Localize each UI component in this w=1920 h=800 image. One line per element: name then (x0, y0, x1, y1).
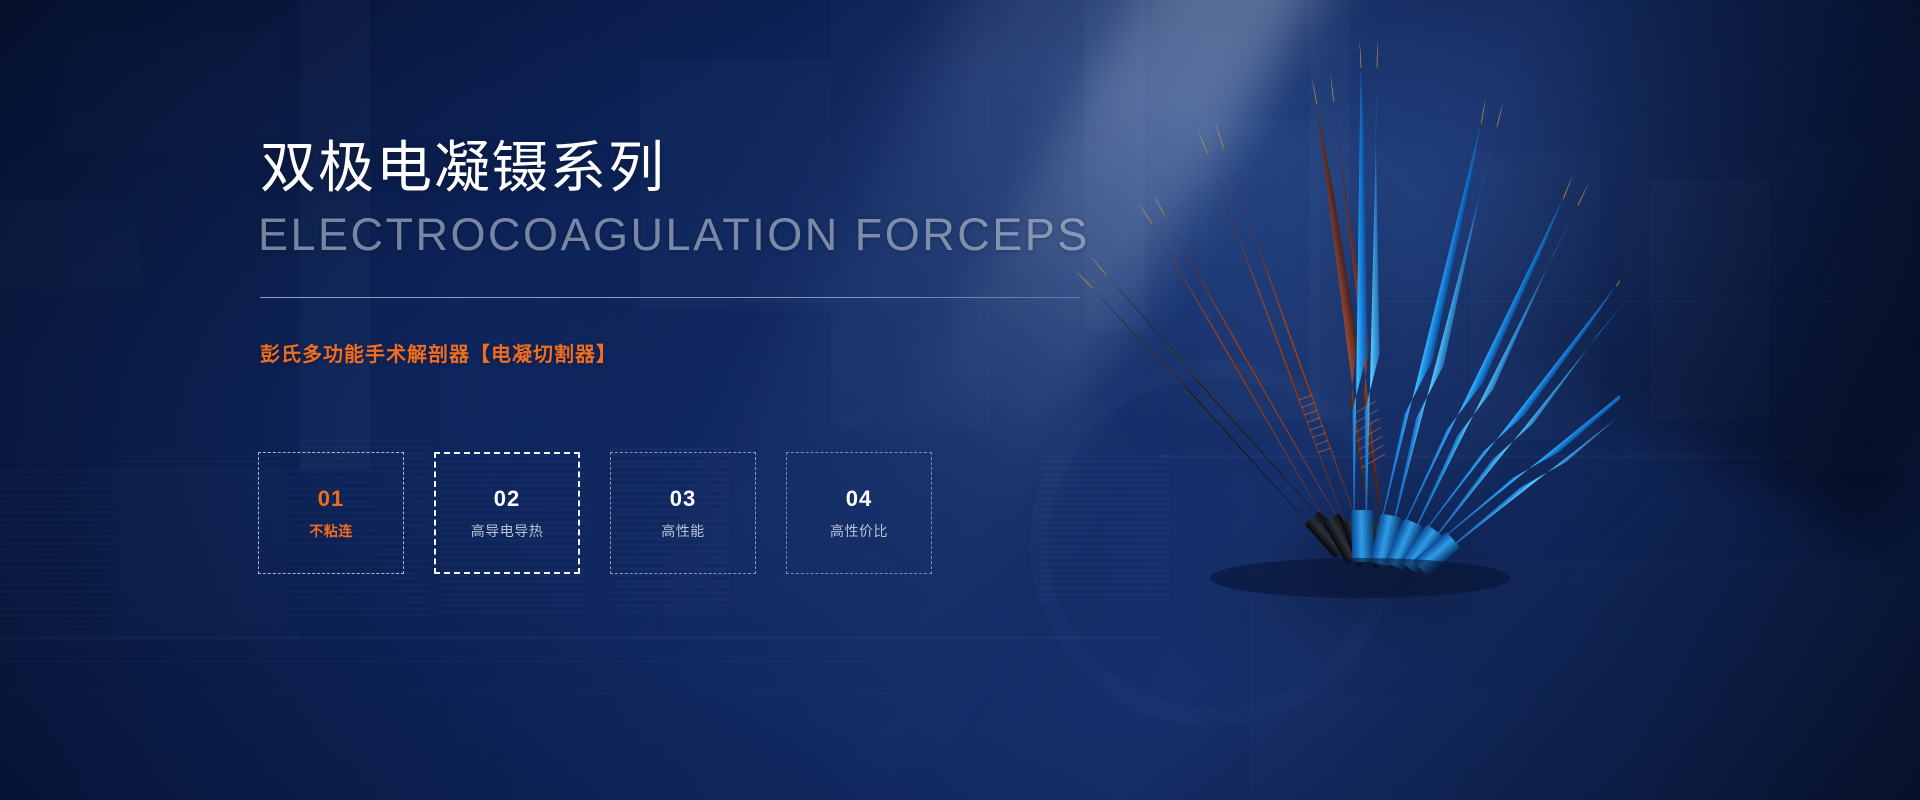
page-subtitle-en: ELECTROCOAGULATION FORCEPS (258, 212, 1090, 257)
feature-number: 04 (846, 488, 872, 510)
page-title: 双极电凝镊系列 (260, 140, 666, 196)
banner-text-block: 双极电凝镊系列 ELECTROCOAGULATION FORCEPS 彭氏多功能… (260, 0, 1160, 800)
product-banner: 双极电凝镊系列 ELECTROCOAGULATION FORCEPS 彭氏多功能… (0, 0, 1920, 800)
feature-box-02[interactable]: 02 高导电导热 (434, 452, 580, 574)
divider (260, 297, 1080, 298)
feature-label: 高性能 (661, 524, 705, 538)
feature-box-03[interactable]: 03 高性能 (610, 452, 756, 574)
feature-box-01[interactable]: 01 不粘连 (258, 452, 404, 574)
product-tagline: 彭氏多功能手术解剖器【电凝切割器】 (260, 345, 617, 365)
feature-label: 不粘连 (309, 524, 353, 538)
feature-number: 02 (494, 488, 520, 510)
feature-label: 高导电导热 (471, 524, 544, 538)
feature-box-04[interactable]: 04 高性价比 (786, 452, 932, 574)
feature-label: 高性价比 (830, 524, 888, 538)
feature-number: 01 (318, 488, 344, 510)
feature-number: 03 (670, 488, 696, 510)
